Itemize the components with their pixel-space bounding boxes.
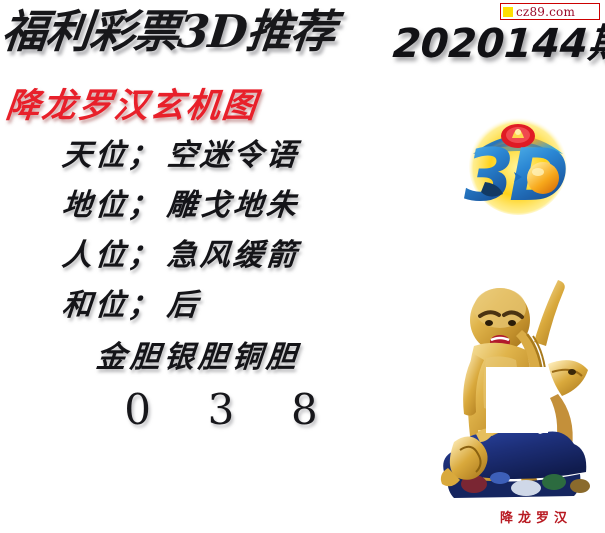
watermark-text: cz89.com [516,6,575,18]
forecast-value: 空迷令语 [166,138,301,173]
dan-heading: 金胆银胆铜胆 [94,340,301,376]
watermark-square-icon [503,7,513,17]
dan-number-silver: 3 [179,386,262,434]
svg-text:3: 3 [464,133,514,217]
statue-caption: 降龙罗汉 [476,511,596,527]
forecast-row-tian: 天位；空迷令语 [60,138,300,174]
issue-period: 2020144期 [391,22,605,66]
forecast-row-di: 地位；雕戈地朱 [60,188,300,224]
forecast-label: 和位； [61,288,163,323]
forecast-row-he: 和位；后 [60,288,201,324]
forecast-value: 急风缓箭 [166,238,301,273]
dan-number-gold: 0 [96,386,179,434]
page-title: 福利彩票3D推荐 [0,2,405,64]
forecast-label: 地位； [61,188,163,223]
forecast-label: 天位； [61,138,163,173]
dan-number-copper: 8 [263,386,346,434]
forecast-label: 人位； [61,238,163,273]
forecast-value: 后 [166,288,202,323]
page-subtitle: 降龙罗汉玄机图 [4,86,260,126]
dan-numbers: 0 3 8 [96,386,346,434]
forecast-row-ren: 人位；急风缓箭 [60,238,300,274]
watermark-badge: cz89.com [500,3,600,20]
censor-box [486,367,548,433]
forecast-value: 雕戈地朱 [166,188,301,223]
poster-canvas: cz89.com 福利彩票3D推荐 2020144期 降龙罗汉玄机图 天位；空迷… [0,0,605,533]
lottery-3d-logo-icon: 3 D [459,108,577,220]
